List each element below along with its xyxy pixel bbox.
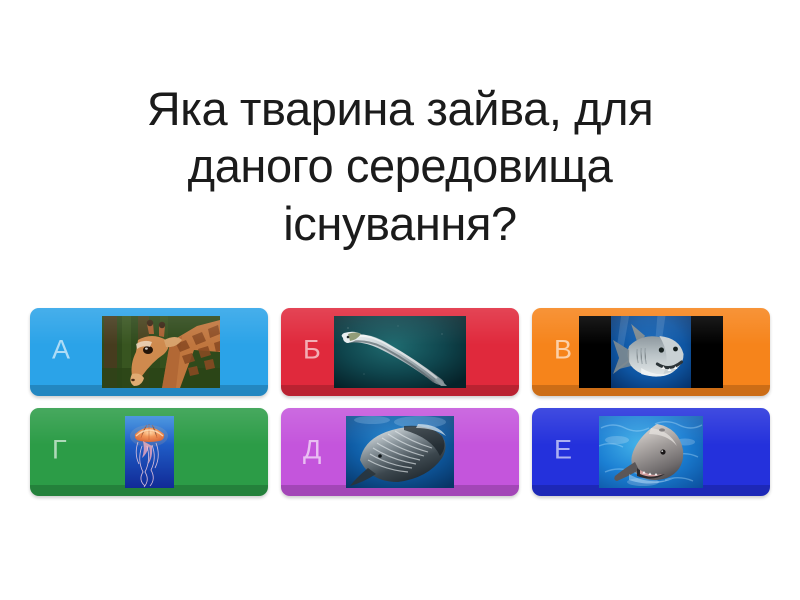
answer-letter-v: В [554, 336, 572, 363]
answer-options-grid: А [30, 308, 770, 496]
eel-photo [334, 316, 466, 388]
answer-card-a[interactable]: А [30, 308, 268, 396]
answer-letter-a: А [52, 336, 70, 363]
answer-letter-b: Б [303, 336, 321, 363]
answer-letter-d: Д [303, 436, 321, 463]
answer-card-d[interactable]: Д [281, 408, 519, 496]
question-area: Яка тварина зайва, для даного середовища… [0, 80, 800, 252]
giraffe-photo [102, 316, 220, 388]
quiz-slide: Яка тварина зайва, для даного середовища… [0, 0, 800, 600]
answer-letter-g: Г [52, 436, 67, 463]
answer-card-g[interactable]: Г [30, 408, 268, 496]
answer-card-e[interactable]: Е [532, 408, 770, 496]
jellyfish-photo [125, 416, 174, 488]
shark-photo [579, 316, 723, 388]
answer-card-b[interactable]: Б [281, 308, 519, 396]
answer-letter-e: Е [554, 436, 572, 463]
whale-photo [346, 416, 454, 488]
dolphin-photo [599, 416, 703, 488]
answer-card-v[interactable]: В [532, 308, 770, 396]
question-text: Яка тварина зайва, для даного середовища… [40, 80, 760, 252]
